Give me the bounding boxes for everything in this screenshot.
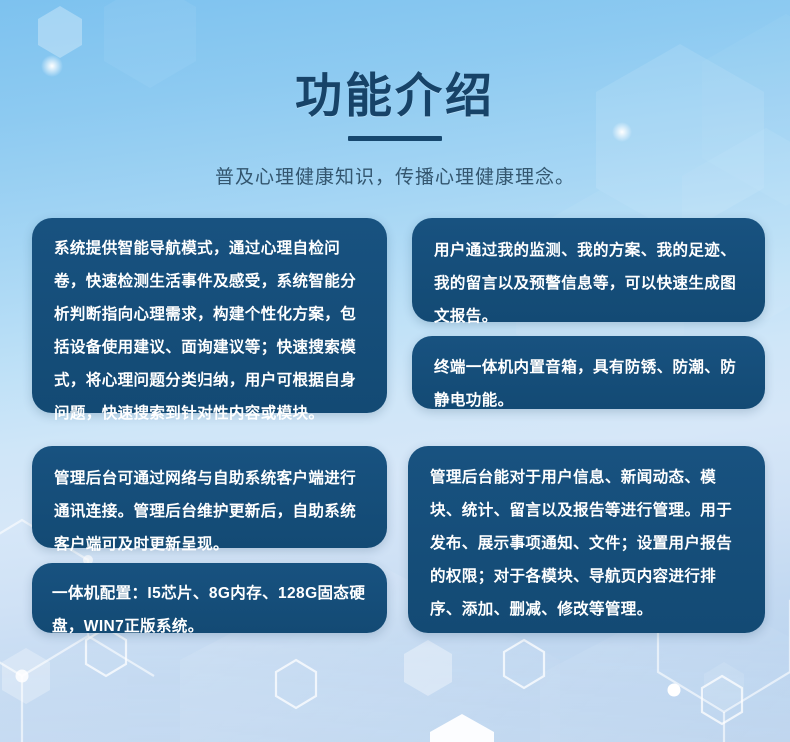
feature-card-backend-text: 管理后台能对于用户信息、新闻动态、模块、统计、留言以及报告等进行管理。用于发布、…: [408, 446, 765, 626]
feature-card-speaker: 终端一体机内置音箱，具有防锈、防潮、防静电功能。: [412, 336, 765, 409]
feature-card-hardware-text: 一体机配置：I5芯片、8G内存、128G固态硬盘，WIN7正版系统。: [32, 563, 387, 643]
title-underline: [348, 136, 442, 141]
feature-card-navigation-text: 系统提供智能导航模式，通过心理自检问卷，快速检测生活事件及感受，系统智能分析判断…: [32, 218, 387, 430]
page-header: 功能介绍 普及心理健康知识，传播心理健康理念。: [0, 0, 790, 189]
page-title: 功能介绍: [0, 72, 790, 119]
feature-card-navigation: 系统提供智能导航模式，通过心理自检问卷，快速检测生活事件及感受，系统智能分析判断…: [32, 218, 387, 413]
page-subtitle: 普及心理健康知识，传播心理健康理念。: [0, 162, 790, 189]
feature-introduction-page: 功能介绍 普及心理健康知识，传播心理健康理念。 系统提供智能导航模式，通过心理自…: [0, 0, 790, 742]
feature-card-backend: 管理后台能对于用户信息、新闻动态、模块、统计、留言以及报告等进行管理。用于发布、…: [408, 446, 765, 633]
feature-card-admin-link: 管理后台可通过网络与自助系统客户端进行通讯连接。管理后台维护更新后，自助系统客户…: [32, 446, 387, 548]
feature-card-admin-link-text: 管理后台可通过网络与自助系统客户端进行通讯连接。管理后台维护更新后，自助系统客户…: [32, 446, 387, 561]
feature-card-report: 用户通过我的监测、我的方案、我的足迹、我的留言以及预警信息等，可以快速生成图文报…: [412, 218, 765, 322]
feature-card-speaker-text: 终端一体机内置音箱，具有防锈、防潮、防静电功能。: [412, 336, 765, 417]
feature-card-report-text: 用户通过我的监测、我的方案、我的足迹、我的留言以及预警信息等，可以快速生成图文报…: [412, 218, 765, 333]
feature-card-hardware: 一体机配置：I5芯片、8G内存、128G固态硬盘，WIN7正版系统。: [32, 563, 387, 633]
hexagon-solid: [2, 640, 744, 742]
